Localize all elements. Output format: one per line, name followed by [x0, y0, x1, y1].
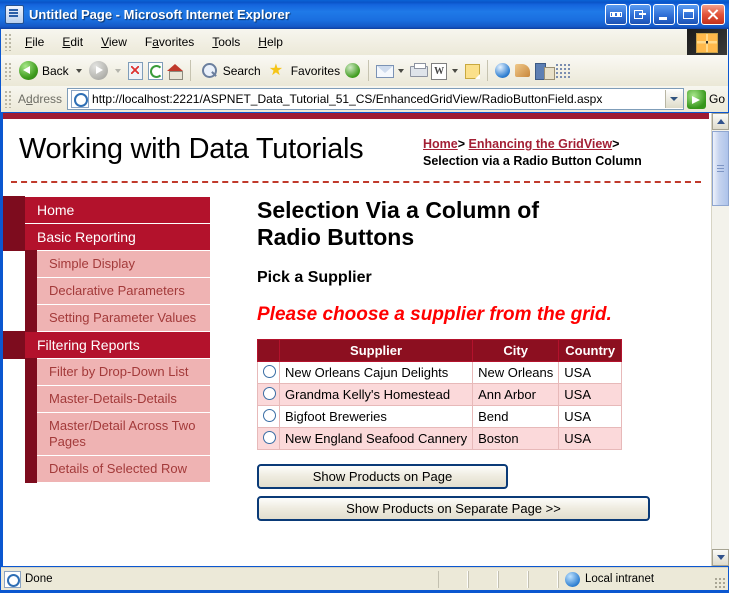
table-row: New England Seafood Cannery Boston USA: [258, 428, 622, 450]
status-segment: [528, 571, 558, 588]
cell-country: USA: [559, 428, 622, 450]
breadcrumb-current: Selection via a Radio Button Column: [423, 153, 705, 170]
messenger-icon[interactable]: [493, 61, 513, 80]
cell-country: USA: [559, 384, 622, 406]
window-controls: [605, 4, 725, 25]
sidebar-item-setting-parameter-values[interactable]: Setting Parameter Values: [37, 305, 210, 332]
sidebar-item-basic-reporting[interactable]: Basic Reporting: [25, 224, 210, 251]
refresh-icon[interactable]: [145, 61, 165, 80]
page-scrollbar[interactable]: [711, 113, 729, 566]
row-select-cell[interactable]: [258, 428, 280, 450]
menu-item-edit[interactable]: Edit: [53, 32, 92, 52]
section-subheading: Pick a Supplier: [257, 269, 695, 287]
grid-header-row: Supplier City Country: [258, 340, 622, 362]
menu-tools-rest: ools: [218, 35, 240, 49]
sidebar-item-master-details-details[interactable]: Master-Details-Details: [37, 386, 210, 413]
menu-grip-icon[interactable]: [4, 33, 12, 51]
menu-favorites-rest: vorites: [159, 35, 194, 49]
notes-icon[interactable]: [462, 61, 482, 80]
cell-country: USA: [559, 362, 622, 384]
action-buttons: Show Products on Page Show Products on S…: [257, 464, 695, 521]
menu-help-rest: elp: [267, 35, 283, 49]
sidebar-item-master-detail-across-two-pages[interactable]: Master/Detail Across Two Pages: [37, 413, 210, 456]
back-label: Back: [42, 64, 69, 78]
back-button[interactable]: Back: [16, 59, 72, 83]
print-icon[interactable]: [408, 61, 428, 80]
menu-item-file[interactable]: File: [16, 32, 53, 52]
scroll-down-button[interactable]: [712, 549, 729, 566]
research-icon[interactable]: [513, 61, 533, 80]
radio-button-icon[interactable]: [263, 409, 276, 422]
maximize-button[interactable]: [677, 4, 699, 25]
suppliers-grid: Supplier City Country New Orleans Cajun …: [257, 339, 622, 450]
status-segment: [498, 571, 528, 588]
sidebar-item-details-of-selected-row[interactable]: Details of Selected Row: [37, 456, 210, 483]
table-row: New Orleans Cajun Delights New Orleans U…: [258, 362, 622, 384]
address-url-text: http://localhost:2221/ASPNET_Data_Tutori…: [92, 92, 665, 106]
ie-brand-logo: [687, 29, 727, 55]
cell-country: USA: [559, 406, 622, 428]
window-title: Untitled Page - Microsoft Internet Explo…: [29, 7, 605, 22]
scroll-up-button[interactable]: [712, 113, 729, 130]
breadcrumb-sep-2: >: [612, 137, 619, 151]
globe-icon: [565, 572, 580, 587]
column-header-supplier: Supplier: [280, 340, 473, 362]
row-select-cell[interactable]: [258, 362, 280, 384]
search-label: Search: [223, 64, 261, 78]
menu-item-view[interactable]: View: [92, 32, 136, 52]
radio-button-icon[interactable]: [263, 365, 276, 378]
sidebar-item-declarative-parameters[interactable]: Declarative Parameters: [37, 278, 210, 305]
sidebar-item-simple-display[interactable]: Simple Display: [37, 251, 210, 278]
media-icon[interactable]: [343, 61, 363, 80]
forward-icon: [89, 61, 108, 80]
page-header: Working with Data Tutorials Home> Enhanc…: [11, 119, 701, 183]
status-segment: [468, 571, 498, 588]
cell-city: Boston: [473, 428, 559, 450]
encyclopedia-icon[interactable]: [533, 61, 553, 80]
page-body: Home Basic Reporting Simple Display Decl…: [3, 197, 709, 528]
forward-history-dropdown-icon: [115, 69, 121, 73]
scrollbar-thumb[interactable]: [712, 131, 729, 206]
sidebar-item-filtering-reports[interactable]: Filtering Reports: [25, 332, 210, 359]
radio-button-icon[interactable]: [263, 387, 276, 400]
column-header-select: [258, 340, 280, 362]
menu-bar: File Edit View Favorites Tools Help: [1, 29, 728, 55]
close-button[interactable]: [701, 4, 725, 25]
security-zone-text: Local intranet: [585, 573, 654, 585]
go-button[interactable]: Go: [687, 90, 725, 109]
ie-window-button[interactable]: [629, 4, 651, 25]
address-label: Address: [18, 92, 62, 106]
toolbar-grip-icon[interactable]: [4, 62, 12, 80]
breadcrumb: Home> Enhancing the GridView> Selection …: [423, 136, 705, 170]
table-row: Bigfoot Breweries Bend USA: [258, 406, 622, 428]
back-history-dropdown-icon[interactable]: [76, 69, 82, 73]
page-viewport: Working with Data Tutorials Home> Enhanc…: [3, 113, 726, 566]
edit-with-word-icon[interactable]: W: [428, 61, 448, 80]
validation-message: Please choose a supplier from the grid.: [257, 303, 667, 327]
cell-supplier: New Orleans Cajun Delights: [280, 362, 473, 384]
status-text: Done: [25, 573, 53, 585]
menu-file-rest: ile: [32, 35, 44, 49]
show-products-separate-page-button[interactable]: Show Products on Separate Page >>: [257, 496, 650, 521]
restore-group-button[interactable]: [605, 4, 627, 25]
breadcrumb-sep-1: >: [458, 137, 465, 151]
favorites-button[interactable]: ★ Favorites: [264, 59, 343, 83]
minimize-button[interactable]: [653, 4, 675, 25]
page-title: Selection Via a Column of Radio Buttons: [257, 197, 607, 251]
address-bar: Address http://localhost:2221/ASPNET_Dat…: [1, 86, 728, 112]
edit-dropdown-icon[interactable]: [452, 69, 458, 73]
cell-city: New Orleans: [473, 362, 559, 384]
home-icon[interactable]: [165, 61, 185, 80]
column-header-country: Country: [559, 340, 622, 362]
mail-icon[interactable]: [374, 61, 394, 80]
menu-view-rest: iew: [109, 35, 127, 49]
address-history-dropdown[interactable]: [665, 90, 683, 108]
back-icon: [19, 61, 38, 80]
show-products-on-page-button[interactable]: Show Products on Page: [257, 464, 508, 489]
menu-edit-rest: dit: [70, 35, 83, 49]
web-page: Working with Data Tutorials Home> Enhanc…: [3, 113, 709, 566]
menu-item-favorites[interactable]: Favorites: [136, 32, 203, 52]
window-icon: [5, 5, 24, 24]
address-grip-icon[interactable]: [4, 90, 12, 108]
sidebar-item-home[interactable]: Home: [25, 197, 210, 224]
search-icon: [199, 61, 219, 80]
cell-city: Bend: [473, 406, 559, 428]
status-bar: Done Local intranet: [1, 567, 728, 590]
favorites-label: Favorites: [291, 64, 340, 78]
navigation-toolbar: Back Search ★ Favorites W: [1, 55, 728, 86]
security-zone: Local intranet: [558, 571, 728, 588]
go-icon: [687, 90, 706, 109]
toolbar-separator-2: [368, 60, 369, 81]
site-title: Working with Data Tutorials: [19, 133, 363, 166]
menu-item-tools[interactable]: Tools: [203, 32, 249, 52]
resize-grip-icon[interactable]: [714, 577, 726, 589]
go-label: Go: [709, 92, 725, 106]
cell-supplier: Bigfoot Breweries: [280, 406, 473, 428]
radio-button-icon[interactable]: [263, 431, 276, 444]
main-content: Selection Via a Column of Radio Buttons …: [221, 197, 709, 528]
cell-supplier: Grandma Kelly's Homestead: [280, 384, 473, 406]
browser-window: Untitled Page - Microsoft Internet Explo…: [0, 0, 729, 593]
encoding-icon[interactable]: [553, 61, 573, 80]
menu-item-help[interactable]: Help: [249, 32, 292, 52]
breadcrumb-home-link[interactable]: Home: [423, 137, 458, 151]
mail-dropdown-icon[interactable]: [398, 69, 404, 73]
table-row: Grandma Kelly's Homestead Ann Arbor USA: [258, 384, 622, 406]
row-select-cell[interactable]: [258, 384, 280, 406]
address-input[interactable]: http://localhost:2221/ASPNET_Data_Tutori…: [67, 88, 684, 110]
column-header-city: City: [473, 340, 559, 362]
title-bar: Untitled Page - Microsoft Internet Explo…: [0, 0, 729, 29]
cell-city: Ann Arbor: [473, 384, 559, 406]
favorites-star-icon: ★: [267, 61, 287, 80]
page-icon: [4, 571, 21, 588]
toolbar-separator-3: [487, 60, 488, 81]
sidebar-nav: Home Basic Reporting Simple Display Decl…: [3, 197, 221, 528]
status-message: Done: [1, 571, 438, 588]
sidebar-item-filter-by-dropdown-list[interactable]: Filter by Drop-Down List: [37, 359, 210, 386]
stop-icon[interactable]: [125, 61, 145, 80]
breadcrumb-section-link[interactable]: Enhancing the GridView: [469, 137, 613, 151]
row-select-cell[interactable]: [258, 406, 280, 428]
toolbar-separator: [190, 60, 191, 81]
cell-supplier: New England Seafood Cannery: [280, 428, 473, 450]
page-icon: [71, 90, 89, 108]
forward-button: [86, 59, 111, 83]
search-button[interactable]: Search: [196, 59, 264, 83]
status-segment: [438, 571, 468, 588]
